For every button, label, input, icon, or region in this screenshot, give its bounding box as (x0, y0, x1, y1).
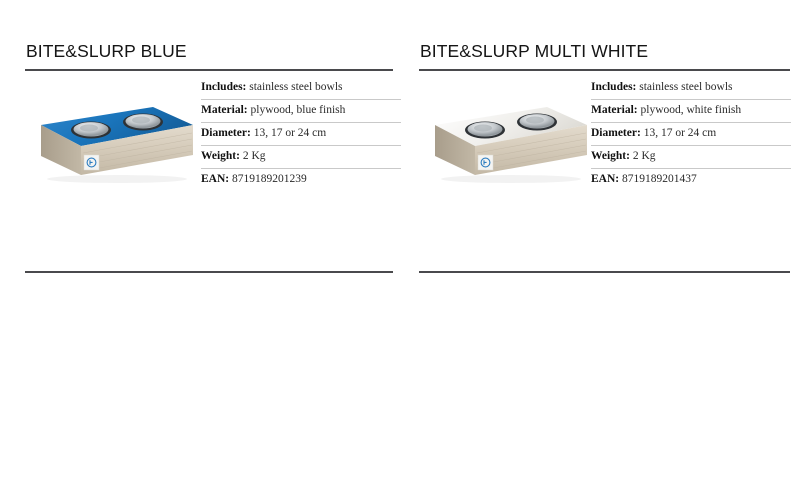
spec-row: Includes: stainless steel bowls (201, 77, 401, 100)
spec-label: EAN: (591, 173, 622, 185)
product-body-white: Includes: stainless steel bowls Material… (419, 71, 790, 239)
spec-value: 13, 17 or 24 cm (254, 127, 327, 139)
brand-badge-white (478, 155, 493, 170)
spec-value: plywood, white finish (641, 104, 742, 116)
spec-label: Material: (201, 104, 251, 116)
spec-row: Diameter: 13, 17 or 24 cm (201, 123, 401, 146)
spec-value: plywood, blue finish (251, 104, 346, 116)
spec-value: 2 Kg (243, 150, 266, 162)
spec-row: Weight: 2 Kg (201, 146, 401, 169)
spec-row: Material: plywood, blue finish (201, 100, 401, 123)
spec-row: Diameter: 13, 17 or 24 cm (591, 123, 791, 146)
spec-label: Diameter: (201, 127, 254, 139)
spec-row: Material: plywood, white finish (591, 100, 791, 123)
spec-value: 2 Kg (633, 150, 656, 162)
bottom-rule-white (419, 271, 790, 273)
spec-row: Includes: stainless steel bowls (591, 77, 791, 100)
bottom-rule-blue (25, 271, 393, 273)
product-panel-blue: BITE&SLURP BLUE (25, 40, 393, 239)
spec-label: Weight: (201, 150, 243, 162)
spec-row: Weight: 2 Kg (591, 146, 791, 169)
spec-value: 13, 17 or 24 cm (644, 127, 717, 139)
product-image-blue (25, 89, 195, 199)
spec-label: Material: (591, 104, 641, 116)
product-body-blue: Includes: stainless steel bowls Material… (25, 71, 393, 239)
spec-table-white: Includes: stainless steel bowls Material… (591, 77, 791, 191)
page-title-white: BITE&SLURP MULTI WHITE (419, 40, 790, 62)
spec-row: EAN: 8719189201437 (591, 169, 791, 191)
spec-label: EAN: (201, 173, 232, 185)
spec-table-blue: Includes: stainless steel bowls Material… (201, 77, 401, 191)
spec-label: Includes: (591, 81, 639, 93)
product-image-white (419, 89, 589, 199)
spec-value: 8719189201437 (622, 173, 697, 185)
spec-value: 8719189201239 (232, 173, 307, 185)
spec-row: EAN: 8719189201239 (201, 169, 401, 191)
spec-label: Diameter: (591, 127, 644, 139)
brand-badge-blue (84, 155, 99, 170)
product-panel-white: BITE&SLURP MULTI WHITE (419, 40, 790, 239)
spec-value: stainless steel bowls (249, 81, 342, 93)
catalog-page: BITE&SLURP BLUE (0, 0, 800, 485)
spec-label: Weight: (591, 150, 633, 162)
page-title-blue: BITE&SLURP BLUE (25, 40, 393, 62)
spec-label: Includes: (201, 81, 249, 93)
spec-value: stainless steel bowls (639, 81, 732, 93)
